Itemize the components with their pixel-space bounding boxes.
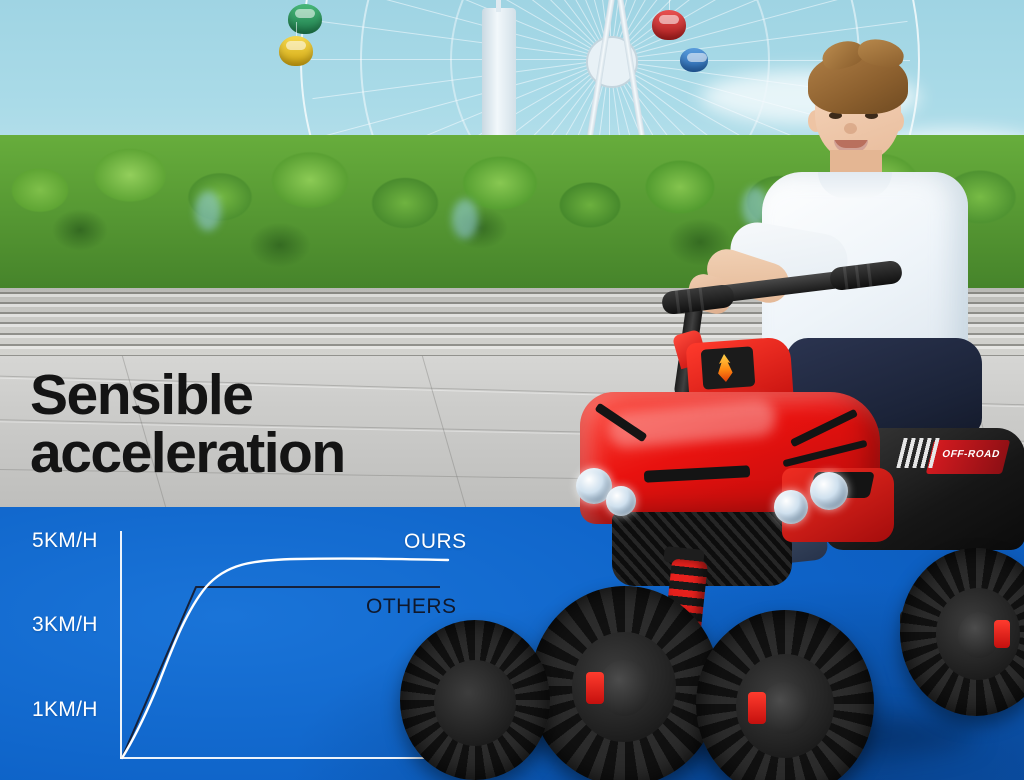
wheel-rim [434,660,516,746]
sky-gap [195,191,221,231]
series-ours-curve [122,559,448,758]
headlight [606,486,636,516]
headlight [774,490,808,524]
nose [844,123,857,134]
decal-stripes [896,438,939,468]
gondola-green [288,4,322,34]
hub-accent [586,672,604,704]
hub-accent [994,620,1010,648]
headline-line-1: Sensible [30,366,345,424]
headlight [810,472,848,510]
wheel-hubcap [760,682,810,734]
product-photo: OFF-ROAD [430,20,1024,780]
decal-label: OFF-ROAD [935,449,1008,460]
wheel-hubcap [598,660,650,716]
hub-accent [748,692,766,724]
headline-line-2: acceleration [30,424,345,482]
gondola-yellow [279,36,313,66]
observation-tower-spire [496,0,501,12]
page-title: Sensible acceleration [30,366,345,482]
product-banner: Sensible acceleration 5KM/H 3KM/H 1KM/H … [0,0,1024,780]
